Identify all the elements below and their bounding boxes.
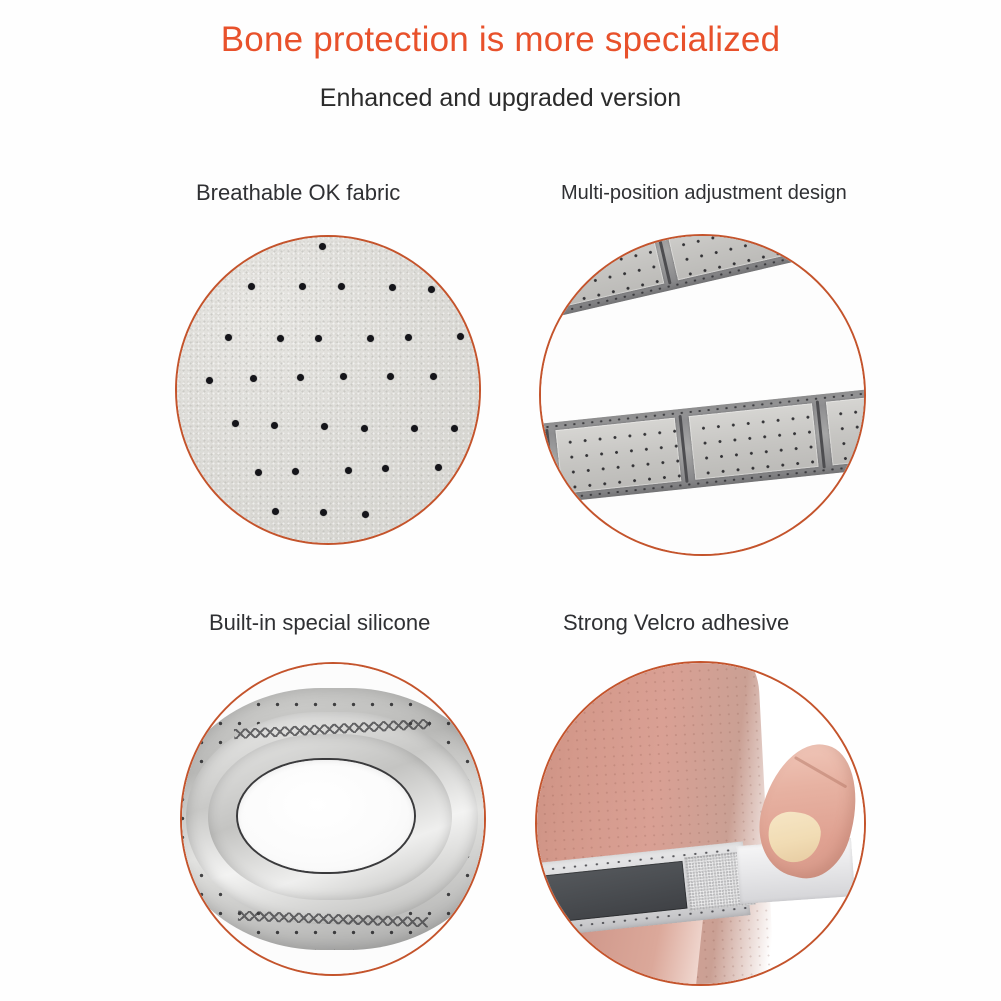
fabric-perforation: [320, 509, 327, 516]
silicone-center-opening: [238, 760, 414, 872]
fabric-perforation: [361, 425, 368, 432]
fabric-perforation: [367, 335, 374, 342]
strap-lower-pad-3: [826, 392, 864, 465]
perforated-fabric-photo: [177, 237, 479, 543]
fabric-perforation: [232, 420, 239, 427]
fabric-perforation: [272, 508, 279, 515]
fabric-perforation: [299, 283, 306, 290]
fabric-perforation: [255, 469, 262, 476]
feature-image-built-in-silicone: [180, 662, 486, 976]
fabric-perforation: [319, 243, 326, 250]
page-title: Bone protection is more specialized: [0, 20, 1001, 60]
strap-lower-pad-2: [689, 403, 819, 480]
fabric-perforation: [292, 468, 299, 475]
fabric-perforation: [340, 373, 347, 380]
fabric-perforation: [389, 284, 396, 291]
feature-image-strong-velcro: [535, 661, 866, 986]
feature-caption-multi-position-adjustment: Multi-position adjustment design: [561, 182, 847, 205]
fabric-perforation: [345, 467, 352, 474]
fabric-perforation: [297, 374, 304, 381]
velcro-on-leg-photo: [537, 663, 864, 984]
fabric-perforation: [338, 283, 345, 290]
feature-image-multi-position-adjustment: [539, 234, 866, 556]
infographic-page: Bone protection is more specialized Enha…: [0, 0, 1001, 1001]
fabric-perforation: [321, 423, 328, 430]
fabric-perforation: [430, 373, 437, 380]
fabric-perforation: [206, 377, 213, 384]
fabric-perforation: [315, 335, 322, 342]
fabric-perforation: [250, 375, 257, 382]
fabric-perforation: [457, 333, 464, 340]
fabric-perforation: [382, 465, 389, 472]
fabric-perforation: [451, 425, 458, 432]
feature-caption-built-in-silicone: Built-in special silicone: [209, 610, 430, 636]
fabric-perforation: [411, 425, 418, 432]
fabric-perforation: [435, 464, 442, 471]
angled-straps-photo: [541, 236, 864, 554]
fabric-perforation: [387, 373, 394, 380]
fabric-perforation: [248, 283, 255, 290]
fabric-perforation: [362, 511, 369, 518]
strap-lower-pad-1: [555, 418, 681, 494]
fabric-perforation: [271, 422, 278, 429]
fabric-perforation: [277, 335, 284, 342]
fabric-perforation: [428, 286, 435, 293]
thumbnail: [765, 809, 823, 866]
fabric-perforation: [225, 334, 232, 341]
fabric-perforation: [405, 334, 412, 341]
page-subtitle: Enhanced and upgraded version: [0, 84, 1001, 113]
feature-caption-strong-velcro: Strong Velcro adhesive: [563, 610, 789, 636]
fabric-perforation-holes: [177, 237, 479, 543]
silicone-pad-photo: [182, 664, 484, 974]
feature-caption-breathable-fabric: Breathable OK fabric: [196, 180, 400, 206]
feature-image-breathable-fabric: [175, 235, 481, 545]
thumb-crease: [794, 756, 847, 789]
